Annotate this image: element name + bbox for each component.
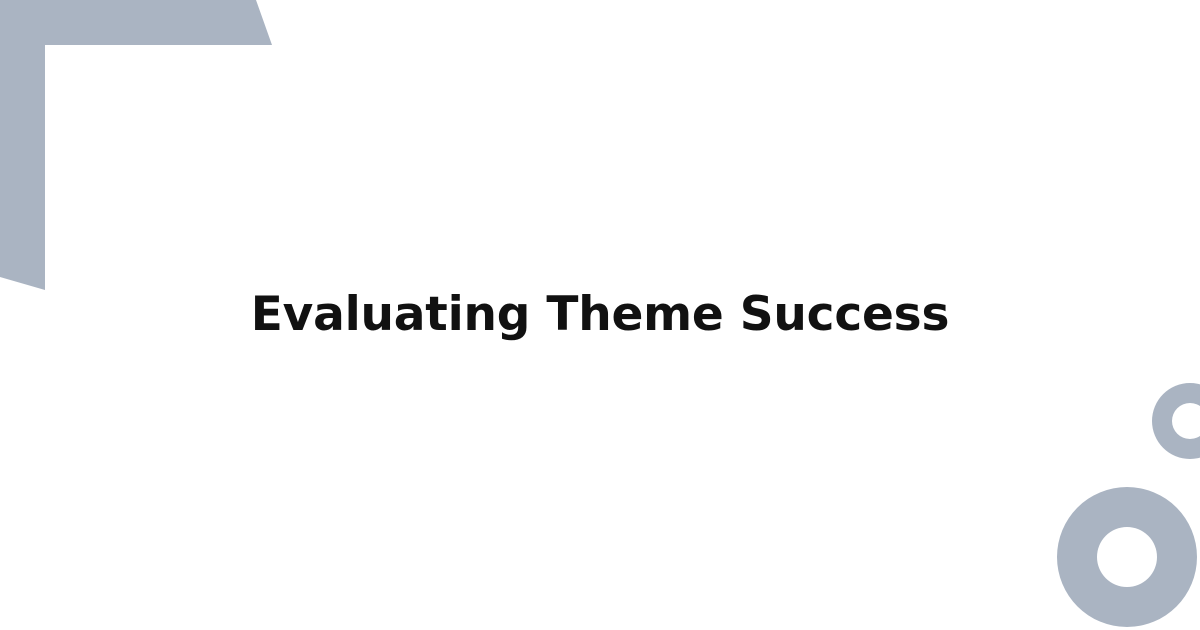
- page-title: Evaluating Theme Success: [211, 287, 989, 342]
- headline-container: Evaluating Theme Success: [0, 0, 1200, 630]
- social-card: Evaluating Theme Success: [0, 0, 1200, 630]
